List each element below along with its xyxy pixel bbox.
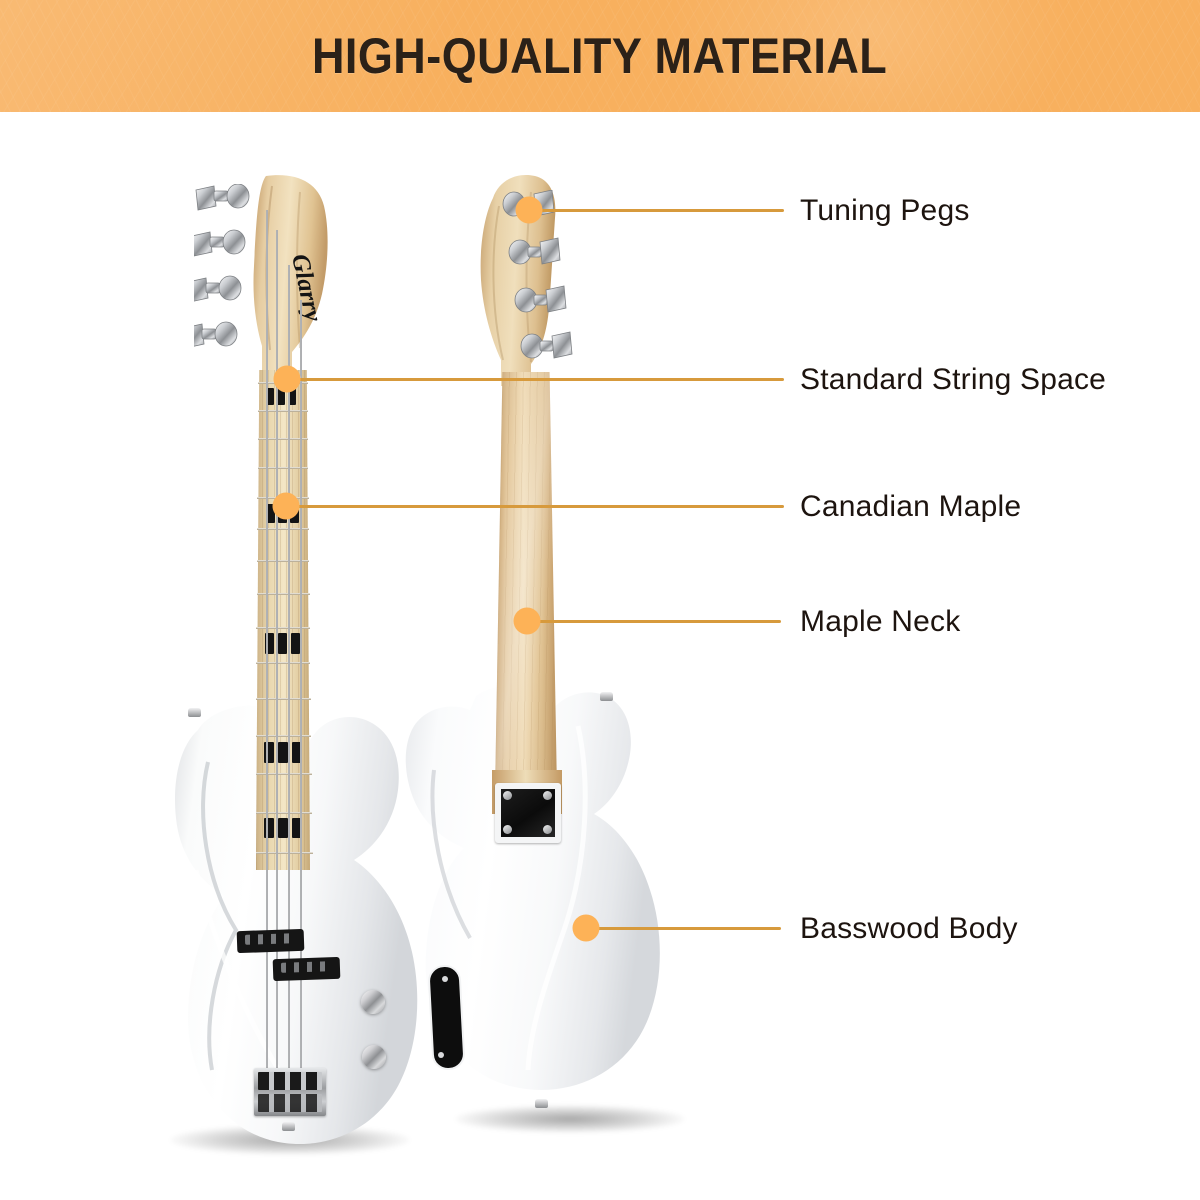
callout-line-standard-string-space [287, 378, 784, 381]
callout-dot-maple-neck[interactable] [514, 608, 541, 635]
callout-line-tuning-pegs [529, 209, 784, 212]
infographic-page: HIGH-QUALITY MATERIAL [0, 0, 1200, 1200]
callout-label-tuning-pegs: Tuning Pegs [800, 194, 970, 228]
callout-line-basswood-body [586, 927, 781, 930]
callout-label-maple-neck: Maple Neck [800, 605, 960, 639]
callout-dot-standard-string-space[interactable] [274, 366, 301, 393]
callout-line-canadian-maple [286, 505, 784, 508]
callout-label-standard-string-space: Standard String Space [800, 363, 1106, 397]
callout-dot-canadian-maple[interactable] [273, 493, 300, 520]
callout-label-basswood-body: Basswood Body [800, 912, 1018, 946]
callout-dot-tuning-pegs[interactable] [516, 197, 543, 224]
callout-dot-basswood-body[interactable] [573, 915, 600, 942]
callout-line-maple-neck [527, 620, 781, 623]
callout-label-canadian-maple: Canadian Maple [800, 490, 1021, 524]
callout-layer: Tuning Pegs Standard String Space Canadi… [0, 0, 1200, 1200]
